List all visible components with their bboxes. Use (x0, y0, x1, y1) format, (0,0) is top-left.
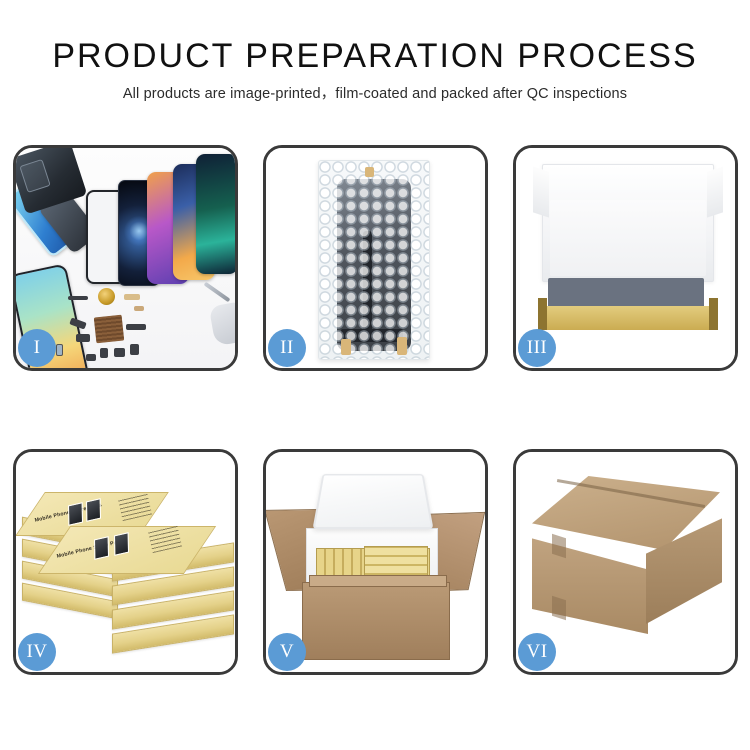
panel-carton-with-foam-box: V (263, 449, 488, 675)
panel-boxes-stacked: Mobile Phone Spare Parts Mobile Phone Sp… (13, 449, 238, 675)
infographic-page: PRODUCT PREPARATION PROCESS All products… (0, 0, 750, 750)
panel-badge: VI (518, 633, 556, 671)
tweezers-tool (204, 282, 231, 302)
tape-tab-top (365, 167, 374, 177)
spare-part (56, 344, 63, 356)
outer-carton (302, 582, 450, 660)
tray-right-edge (709, 298, 718, 330)
gloved-hand (209, 302, 235, 347)
circuit-board-part (94, 315, 125, 344)
box-label-image (94, 536, 109, 560)
bubble-wrap-bag (318, 160, 430, 360)
box-label-image (68, 502, 83, 526)
tray-front-wall (538, 306, 718, 330)
panel-bubble-wrapped-screen: II (263, 145, 488, 371)
panel-products-and-parts: I (13, 145, 238, 371)
header: PRODUCT PREPARATION PROCESS All products… (0, 0, 750, 103)
tape-tab-right (397, 337, 407, 355)
panel-badge: V (268, 633, 306, 671)
carton-tape-upper (552, 534, 566, 559)
spare-part (68, 296, 88, 300)
carton-front-face (532, 530, 648, 634)
carton-tape-lower (552, 596, 566, 621)
spare-part (126, 324, 146, 330)
panel-badge: IV (18, 633, 56, 671)
panel-inner-box-packing: III (513, 145, 738, 371)
panel-badge: I (18, 329, 56, 367)
spare-part (100, 348, 108, 358)
spare-part (86, 354, 96, 361)
panel-sealed-carton: VI (513, 449, 738, 675)
tape-tab-left (341, 339, 351, 355)
spare-part (134, 306, 144, 311)
box-label-image (86, 498, 101, 522)
bubble-texture (319, 161, 429, 359)
panel-badge: III (518, 329, 556, 367)
spare-part (76, 334, 90, 342)
spare-part (130, 344, 139, 355)
box-stack: Mobile Phone Spare Parts Mobile Phone Sp… (20, 474, 235, 664)
spare-part (124, 294, 140, 300)
foam-sheet (550, 200, 706, 276)
tray-left-edge (538, 298, 547, 330)
phone-display-teal (196, 154, 235, 274)
page-subtitle: All products are image-printed，film-coat… (0, 85, 750, 103)
process-panel-grid: I II (13, 145, 737, 675)
panel-badge: II (268, 329, 306, 367)
speaker-coil-part (98, 288, 115, 305)
box-label-image (114, 532, 129, 556)
spare-part (114, 348, 125, 357)
page-title: PRODUCT PREPARATION PROCESS (0, 36, 750, 76)
foam-box-lid (312, 474, 433, 529)
